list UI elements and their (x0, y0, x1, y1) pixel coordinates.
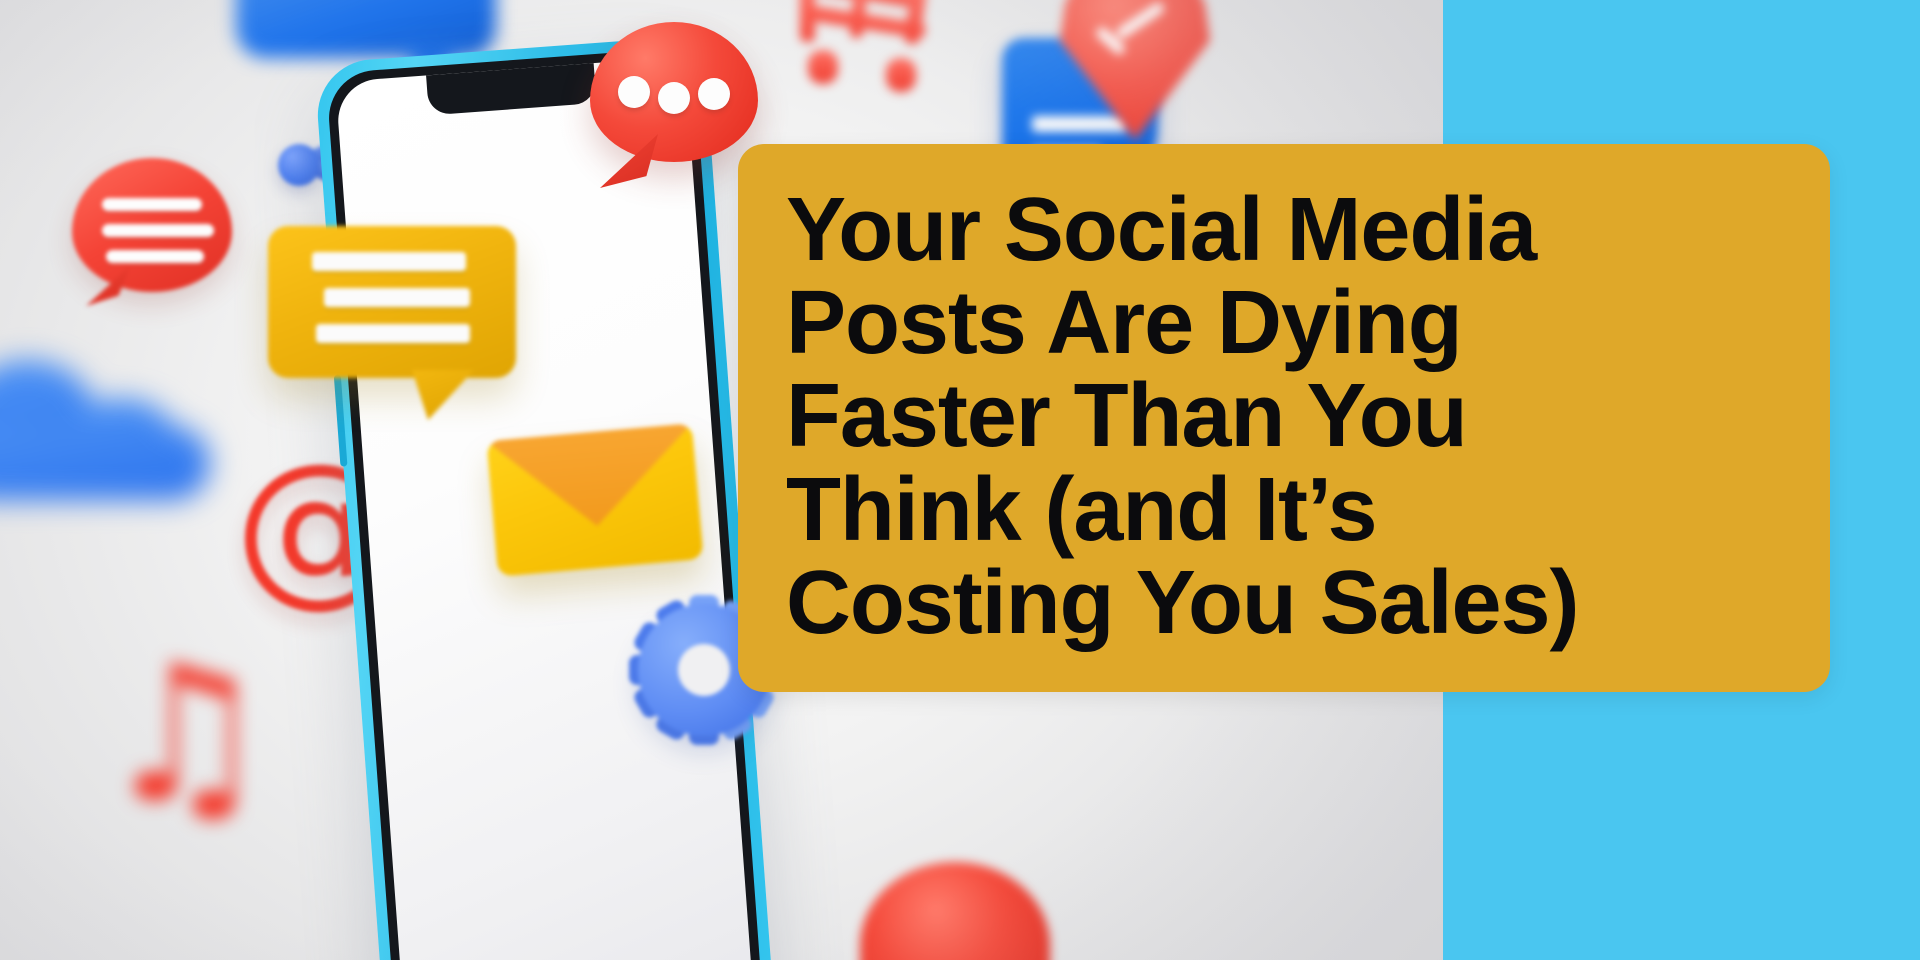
page-title: Your Social Media Posts Are Dying Faster… (786, 184, 1782, 650)
speech-bubble-blue-icon (236, 0, 496, 58)
chat-card-lines-icon (268, 226, 516, 378)
envelope-icon (486, 423, 703, 576)
screenshot-canvas: @ ♫ (0, 0, 1920, 960)
headline-line-1: Your Social Media (786, 184, 1782, 277)
headline-line-5: Costing You Sales) (786, 557, 1782, 650)
headline-line-4: Think (and It’s (786, 464, 1782, 557)
headline-line-2: Posts Are Dying (786, 277, 1782, 370)
shopping-cart-icon (790, 0, 970, 126)
chat-bubble-red-icon (860, 862, 1050, 960)
cloud-icon (0, 350, 210, 510)
chat-bubble-dots-icon (590, 22, 758, 162)
chat-bubble-lines-icon (72, 158, 232, 292)
headline-card: Your Social Media Posts Are Dying Faster… (738, 144, 1830, 692)
location-pin-check-icon (1060, 0, 1210, 140)
headline-line-3: Faster Than You (786, 370, 1782, 463)
music-note-icon: ♫ (100, 660, 240, 820)
